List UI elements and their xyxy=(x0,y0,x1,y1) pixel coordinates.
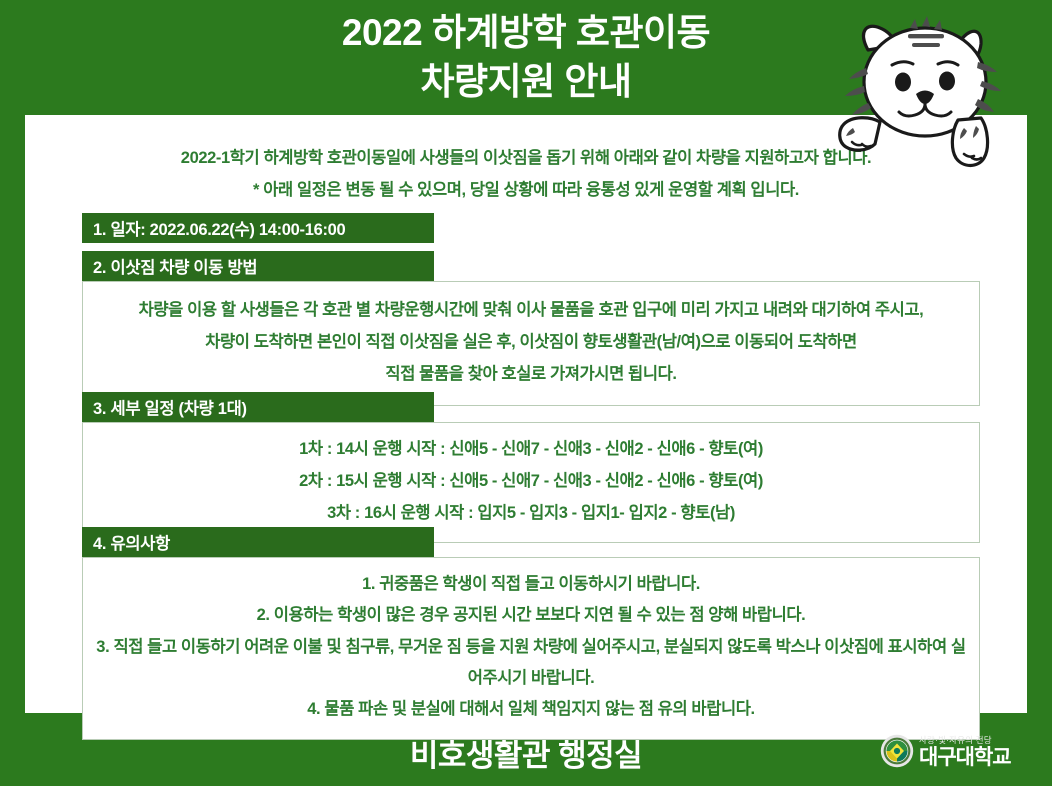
schedule-line: 2차 : 15시 운행 시작 : 신애5 - 신애7 - 신애3 - 신애2 -… xyxy=(89,465,973,497)
section-heading: 4. 유의사항 xyxy=(82,527,434,557)
section-body: 1차 : 14시 운행 시작 : 신애5 - 신애7 - 신애3 - 신애2 -… xyxy=(82,422,980,543)
note-item: 1. 귀중품은 학생이 직접 들고 이동하시기 바랍니다. xyxy=(89,569,973,600)
body-line: 차량을 이용 할 사생들은 각 호관 별 차량운행시간에 맞춰 이사 물품을 호… xyxy=(89,294,973,326)
section-heading: 2. 이삿짐 차량 이동 방법 xyxy=(82,251,434,281)
section-moving-method: 2. 이삿짐 차량 이동 방법 차량을 이용 할 사생들은 각 호관 별 차량운… xyxy=(82,251,980,406)
daegu-university-emblem-icon xyxy=(880,734,914,768)
body-line: 차량이 도착하면 본인이 직접 이삿짐을 실은 후, 이삿짐이 향토생활관(남/… xyxy=(89,326,973,358)
note-item: 4. 물품 파손 및 분실에 대해서 일체 책임지지 않는 점 유의 바랍니다. xyxy=(89,694,973,725)
section-schedule: 3. 세부 일정 (차량 1대) 1차 : 14시 운행 시작 : 신애5 - … xyxy=(82,392,980,543)
section-body: 차량을 이용 할 사생들은 각 호관 별 차량운행시간에 맞춰 이사 물품을 호… xyxy=(82,281,980,406)
intro-line-2: * 아래 일정은 변동 될 수 있으며, 당일 상황에 따라 융통성 있게 운영… xyxy=(25,174,1027,206)
poster-header: 2022 하계방학 호관이동 차량지원 안내 xyxy=(0,0,1052,115)
logo-name: 대구대학교 xyxy=(919,747,1011,768)
intro-line-1: 2022-1학기 하계방학 호관이동일에 사생들의 이삿짐을 돕기 위해 아래와… xyxy=(25,142,1027,174)
body-line: 직접 물품을 찾아 호실로 가져가시면 됩니다. xyxy=(89,358,973,390)
section-date: 1. 일자: 2022.06.22(수) 14:00-16:00 xyxy=(82,213,980,243)
university-logo: 사랑·빛·자유의 전당 대구대학교 xyxy=(880,728,1030,774)
section-heading: 1. 일자: 2022.06.22(수) 14:00-16:00 xyxy=(82,213,434,243)
section-body: 1. 귀중품은 학생이 직접 들고 이동하시기 바랍니다. 2. 이용하는 학생… xyxy=(82,557,980,740)
page-title: 2022 하계방학 호관이동 차량지원 안내 xyxy=(0,8,1052,106)
schedule-line: 3차 : 16시 운행 시작 : 입지5 - 입지3 - 입지1- 입지2 - … xyxy=(89,497,973,529)
section-notes: 4. 유의사항 1. 귀중품은 학생이 직접 들고 이동하시기 바랍니다. 2.… xyxy=(82,527,980,740)
intro-paragraph: 2022-1학기 하계방학 호관이동일에 사생들의 이삿짐을 돕기 위해 아래와… xyxy=(25,142,1027,206)
note-item: 3. 직접 들고 이동하기 어려운 이불 및 침구류, 무거운 짐 등을 지원 … xyxy=(89,632,973,695)
content-panel: 2022-1학기 하계방학 호관이동일에 사생들의 이삿짐을 돕기 위해 아래와… xyxy=(25,115,1027,713)
schedule-line: 1차 : 14시 운행 시작 : 신애5 - 신애7 - 신애3 - 신애2 -… xyxy=(89,433,973,465)
note-item: 2. 이용하는 학생이 많은 경우 공지된 시간 보보다 지연 될 수 있는 점… xyxy=(89,600,973,631)
section-heading: 3. 세부 일정 (차량 1대) xyxy=(82,392,434,422)
logo-tagline: 사랑·빛·자유의 전당 xyxy=(919,734,1011,746)
